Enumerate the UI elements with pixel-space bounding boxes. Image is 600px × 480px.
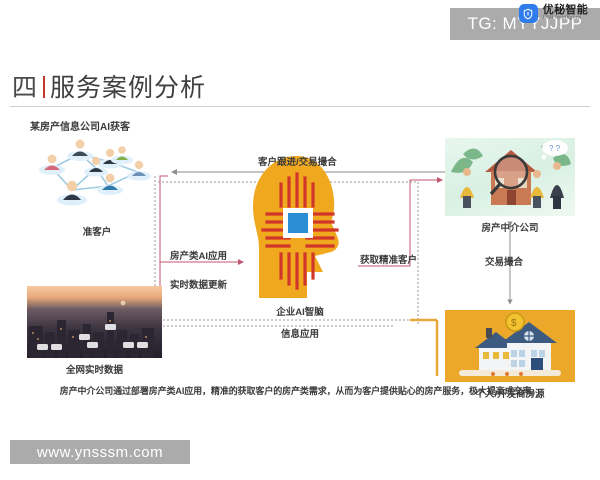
edge-label-follow-up: 客户跟进/交易撮合	[258, 154, 337, 168]
edge-label-deal-matching: 交易撮合	[485, 254, 523, 268]
section-title-text: 服务案例分析	[50, 68, 206, 104]
title-accent-bar	[43, 76, 45, 98]
brand-text: 优秘智能 UMI Intelligent	[543, 5, 588, 22]
case-diagram: 某房产信息公司AI获客	[0, 114, 600, 404]
ai-brain-chip-icon	[245, 152, 355, 302]
section-number: 四	[12, 68, 38, 104]
house-coin-photo: $	[445, 310, 575, 382]
brand-logo: 优秘智能 UMI Intelligent	[519, 4, 588, 23]
svg-text:$: $	[511, 318, 517, 329]
node-realtime-data-label: 全网实时数据	[27, 362, 162, 376]
node-listings: $ 个人/开发商房源	[445, 310, 575, 382]
node-realtime-data: 全网实时数据	[27, 286, 162, 358]
node-agency-label: 房产中介公司	[445, 220, 575, 234]
edge-label-realtime-update: 实时数据更新	[170, 277, 227, 291]
slide-header: 四 服务案例分析	[0, 68, 600, 114]
city-skyline-photo	[27, 286, 162, 358]
node-prospects: 准客户	[22, 138, 172, 220]
edge-label-ai-application: 房产类AI应用	[170, 248, 227, 262]
people-network-icon	[22, 138, 172, 220]
shield-logo-icon	[519, 4, 538, 23]
node-agency: ? ? 房产中介公司	[445, 138, 575, 216]
cluster-heading: 某房产信息公司AI获客	[30, 118, 130, 133]
node-ai-brain: 企业AI智脑	[245, 152, 355, 302]
brand-name-en: UMI Intelligent	[543, 16, 588, 22]
footnote-text: 房产中介公司通过部署房产类AI应用，精准的获取客户的房产类需求，从而为客户提供贴…	[0, 384, 600, 397]
svg-text:? ?: ? ?	[549, 144, 561, 153]
header-divider	[10, 106, 590, 107]
node-prospects-label: 准客户	[22, 224, 172, 238]
page-title: 四 服务案例分析	[12, 68, 206, 104]
website-watermark: www.ynsssm.com	[10, 440, 190, 464]
node-ai-brain-label: 企业AI智脑	[245, 304, 355, 318]
house-magnifier-photo: ? ?	[445, 138, 575, 216]
node-info-application-label: 信息应用	[245, 326, 355, 340]
edge-label-acquire-customers: 获取精准客户	[360, 252, 417, 266]
